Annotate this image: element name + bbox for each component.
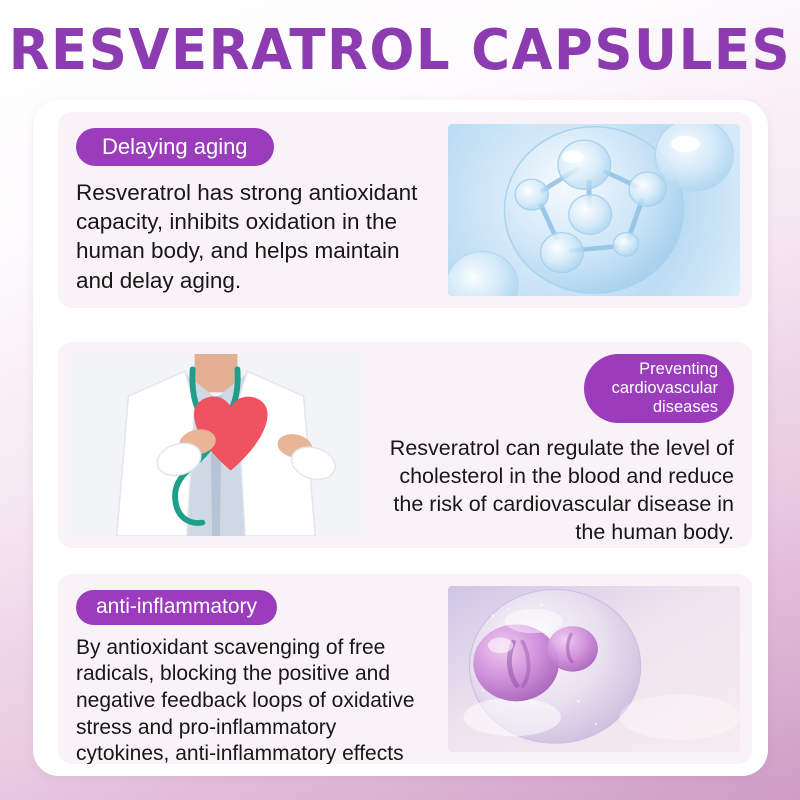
section-1-body: Resveratrol has strong antioxidant capac… xyxy=(76,178,434,295)
badge-delaying-aging[interactable]: Delaying aging xyxy=(76,128,274,166)
page-title: RESVERATROL CAPSULES xyxy=(9,18,791,83)
section-3-text-column: anti-inflammatory By antioxidant scaveng… xyxy=(58,574,448,764)
section-anti-inflammatory: anti-inflammatory By antioxidant scaveng… xyxy=(58,574,752,764)
section-2-image-column xyxy=(58,342,362,548)
section-delaying-aging: Delaying aging Resveratrol has strong an… xyxy=(58,112,752,308)
section-3-body: By antioxidant scavenging of free radica… xyxy=(76,635,434,764)
section-3-body-text: By antioxidant scavenging of free radica… xyxy=(76,635,434,764)
section-1-text-column: Delaying aging Resveratrol has strong an… xyxy=(58,112,448,308)
badge-anti-inflammatory[interactable]: anti-inflammatory xyxy=(76,590,277,625)
badge-preventing-cardiovascular-diseases[interactable]: Preventing cardiovascular diseases xyxy=(584,354,734,423)
section-2-body-text: Resveratrol can regulate the level of ch… xyxy=(374,435,734,547)
purple-capsule-bubble-image xyxy=(448,586,740,752)
section-2-body: Resveratrol can regulate the level of ch… xyxy=(374,435,734,547)
section-1-image-column xyxy=(448,112,752,308)
section-1-body-text: Resveratrol has strong antioxidant capac… xyxy=(76,178,434,295)
poster-root: RESVERATROL CAPSULES Delaying aging Resv… xyxy=(0,0,800,800)
section-2-text-column: Preventing cardiovascular diseases Resve… xyxy=(362,342,752,548)
doctor-heart-image xyxy=(70,354,362,536)
molecule-bubbles-image xyxy=(448,124,740,296)
content-card: Delaying aging Resveratrol has strong an… xyxy=(33,100,768,776)
poster-header: RESVERATROL CAPSULES xyxy=(0,0,800,100)
section-preventing-cardiovascular-diseases: Preventing cardiovascular diseases Resve… xyxy=(58,342,752,548)
section-3-image-column xyxy=(448,574,752,764)
